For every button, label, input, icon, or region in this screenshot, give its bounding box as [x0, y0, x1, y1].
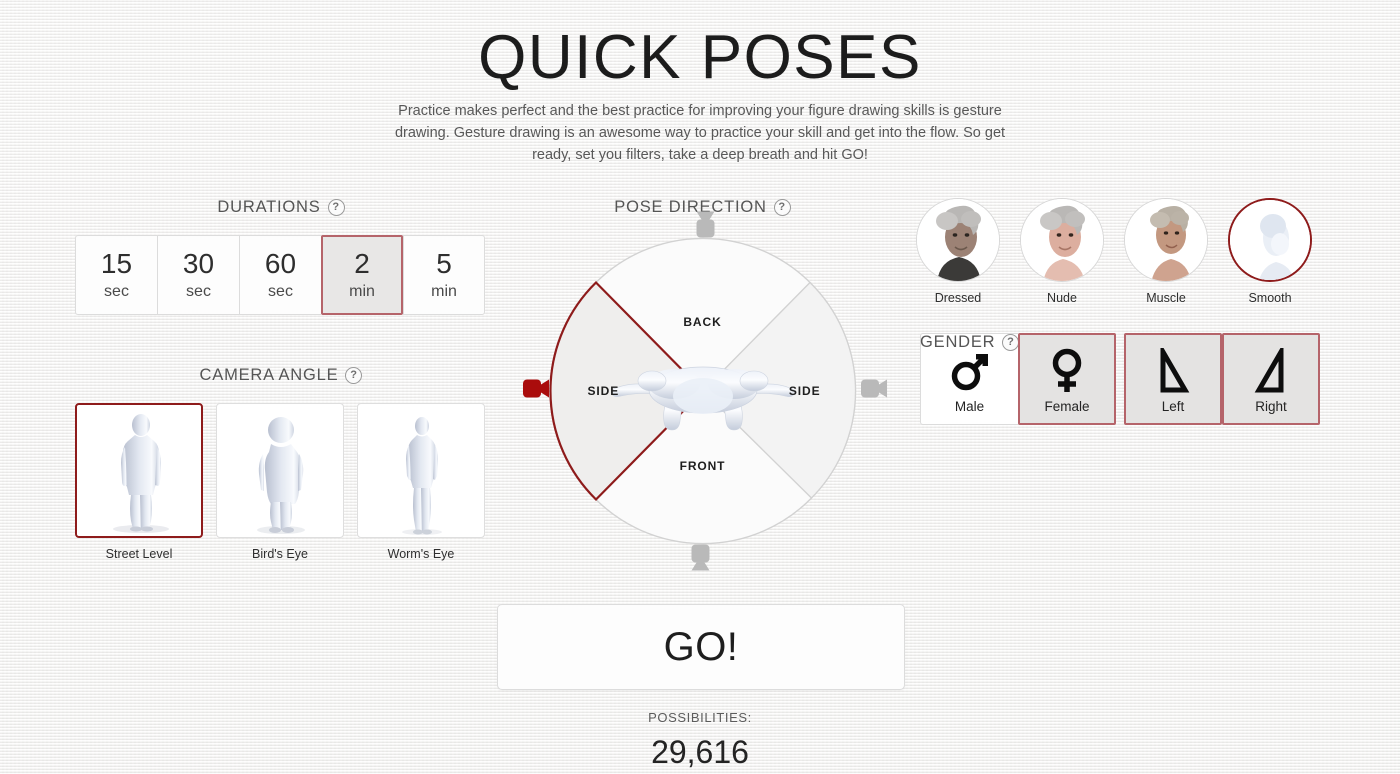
camera-angle-heading-label: CAMERA ANGLE [200, 366, 339, 385]
figure-street-level-icon [77, 405, 203, 538]
pose-direction-wheel: BACK SIDE FRONT SIDE [543, 231, 863, 551]
camera-marker-bottom[interactable] [689, 541, 716, 571]
page-title: QUICK POSES [0, 22, 1400, 93]
durations-help-icon[interactable]: ? [328, 199, 345, 216]
pose-sector-label-front: FRONT [680, 459, 726, 473]
pose-direction-help-icon[interactable]: ? [774, 199, 791, 216]
body-type-section: Dressed Nude [916, 198, 1336, 305]
body-type-avatar[interactable] [1228, 198, 1312, 282]
body-type-option-dressed[interactable]: Dressed [916, 198, 1000, 305]
body-type-avatar[interactable] [1124, 198, 1208, 282]
camera-marker-top[interactable] [689, 212, 716, 242]
avatar-smooth-icon [1230, 200, 1312, 282]
possibilities-value: 29,616 [0, 734, 1400, 771]
avatar-dressed-icon [917, 199, 1000, 282]
light-direction-label: Left [1162, 399, 1185, 414]
camera-marker-right[interactable] [857, 378, 887, 405]
body-type-label: Nude [1047, 291, 1077, 305]
mannequin-top-view-icon [588, 346, 818, 436]
camera-angle-section: CAMERA ANGLE ? [75, 366, 487, 561]
gender-label: Female [1044, 399, 1089, 414]
duration-number: 30 [183, 249, 214, 278]
pose-sector-label-side-right: SIDE [789, 384, 821, 398]
camera-marker-left[interactable] [519, 378, 549, 405]
camera-angle-option-street-level[interactable]: Street Level [75, 403, 203, 561]
camera-angle-option-worms-eye[interactable]: Worm's Eye [357, 403, 485, 561]
figure-worms-eye-icon [358, 404, 485, 538]
go-button[interactable]: GO! [497, 604, 905, 690]
duration-unit: min [349, 283, 375, 301]
gender-help-icon[interactable]: ? [1002, 334, 1019, 351]
gender-section: GENDER ? Male [920, 333, 1116, 425]
camera-angle-thumbnail[interactable] [75, 403, 203, 538]
duration-option-60sec[interactable]: 60 sec [239, 235, 321, 315]
camera-angle-heading: CAMERA ANGLE ? [75, 366, 487, 385]
light-direction-label: Right [1255, 399, 1287, 414]
video-camera-icon [689, 541, 711, 571]
gender-heading: GENDER ? [920, 333, 1019, 352]
video-camera-icon-selected [519, 378, 549, 400]
durations-section: DURATIONS ? 15 sec 30 sec 60 sec 2 min 5 [75, 198, 487, 315]
duration-unit: min [431, 283, 457, 301]
duration-number: 5 [436, 249, 452, 278]
body-type-label: Smooth [1248, 291, 1291, 305]
pose-sector-label-side-left: SIDE [588, 384, 620, 398]
light-direction-section: LIGHT DIRECTION ? Left Right [1124, 333, 1320, 425]
duration-unit: sec [186, 283, 211, 301]
light-direction-option-left[interactable]: Left [1124, 333, 1222, 425]
duration-number: 2 [354, 249, 370, 278]
video-camera-icon [694, 212, 716, 242]
body-type-label: Dressed [935, 291, 982, 305]
duration-unit: sec [104, 283, 129, 301]
page-description: Practice makes perfect and the best prac… [388, 100, 1013, 166]
camera-angle-thumbnail[interactable] [357, 403, 485, 538]
body-type-option-muscle[interactable]: Muscle [1124, 198, 1208, 305]
figure-birds-eye-icon [217, 404, 344, 538]
body-type-option-smooth[interactable]: Smooth [1228, 198, 1312, 305]
duration-option-15sec[interactable]: 15 sec [75, 235, 157, 315]
light-direction-option-right[interactable]: Right [1222, 333, 1320, 425]
body-type-options: Dressed Nude [916, 198, 1336, 305]
gender-label: Male [955, 399, 984, 414]
body-type-avatar[interactable] [1020, 198, 1104, 282]
body-type-avatar[interactable] [916, 198, 1000, 282]
pose-sector-label-back: BACK [683, 315, 721, 329]
triangle-left-icon [1151, 345, 1195, 397]
gender-heading-label: GENDER [920, 333, 995, 352]
duration-option-2min[interactable]: 2 min [321, 235, 403, 315]
camera-angle-label: Street Level [106, 547, 173, 561]
body-type-label: Muscle [1146, 291, 1186, 305]
durations-heading-label: DURATIONS [217, 198, 320, 217]
camera-angle-help-icon[interactable]: ? [345, 367, 362, 384]
quick-poses-app: QUICK POSES Practice makes perfect and t… [0, 0, 1400, 774]
gender-option-female[interactable]: Female [1018, 333, 1116, 425]
avatar-muscle-icon [1125, 199, 1208, 282]
duration-number: 60 [265, 249, 296, 278]
camera-angle-label: Worm's Eye [388, 547, 455, 561]
possibilities-label: POSSIBILITIES: [0, 710, 1400, 725]
triangle-right-icon [1249, 345, 1293, 397]
duration-option-30sec[interactable]: 30 sec [157, 235, 239, 315]
video-camera-icon [857, 378, 887, 400]
durations-heading: DURATIONS ? [75, 198, 487, 217]
camera-angle-options: Street Level Bird's [75, 403, 487, 561]
camera-angle-thumbnail[interactable] [216, 403, 344, 538]
light-direction-options: Left Right [1124, 333, 1320, 425]
durations-button-group: 15 sec 30 sec 60 sec 2 min 5 min [75, 235, 487, 315]
pose-direction-section: POSE DIRECTION ? [530, 198, 875, 551]
venus-icon [1044, 345, 1090, 397]
body-type-option-nude[interactable]: Nude [1020, 198, 1104, 305]
duration-number: 15 [101, 249, 132, 278]
duration-option-5min[interactable]: 5 min [403, 235, 485, 315]
avatar-nude-icon [1021, 199, 1104, 282]
camera-angle-label: Bird's Eye [252, 547, 308, 561]
mars-icon [947, 345, 993, 397]
duration-unit: sec [268, 283, 293, 301]
camera-angle-option-birds-eye[interactable]: Bird's Eye [216, 403, 344, 561]
